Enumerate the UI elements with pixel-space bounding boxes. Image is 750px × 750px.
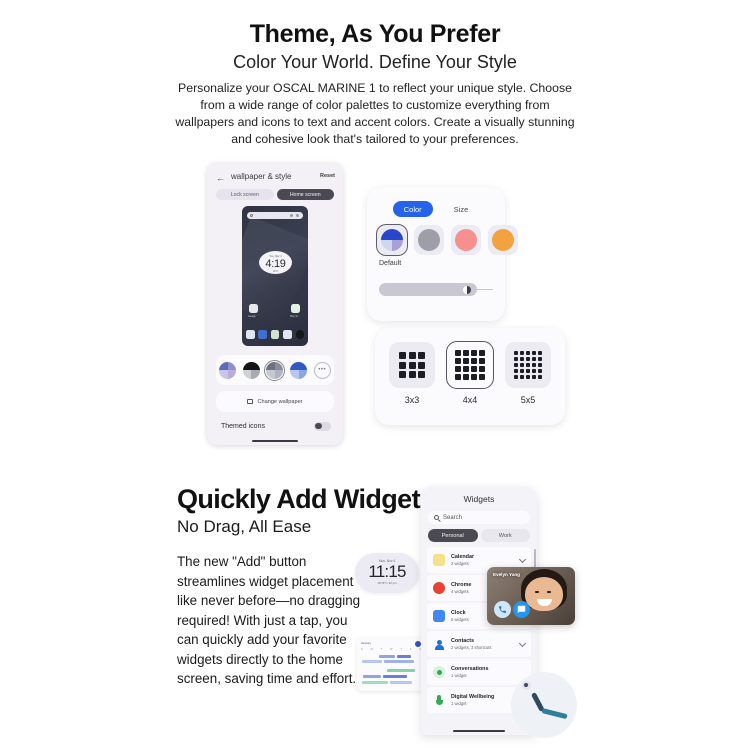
list-item-name: Chrome	[451, 582, 471, 588]
grid-cell	[520, 357, 524, 361]
palette-more-button[interactable]: •••	[314, 362, 331, 379]
calendar-event-bar	[379, 655, 395, 658]
list-item[interactable]: Conversations 1 widget	[427, 659, 531, 685]
grid-cell	[520, 363, 524, 367]
tab-lock-screen[interactable]: Lock screen	[216, 189, 274, 200]
phone-palette-row: •••	[216, 355, 334, 385]
list-item-count: 1 widget	[451, 673, 488, 678]
grid-cell	[463, 374, 469, 380]
chevron-down-icon[interactable]	[519, 640, 526, 647]
calendar-event-bar	[363, 675, 381, 678]
grid-cell	[532, 369, 536, 373]
grid-label-3x3: 3x3	[389, 395, 435, 405]
slider-knob[interactable]	[463, 286, 471, 294]
grid-option-4x4[interactable]: 4x4	[447, 342, 493, 405]
eye-right	[547, 591, 551, 593]
list-item-name: Clock	[451, 610, 469, 616]
grid-cell	[526, 357, 530, 361]
grid-cell	[455, 350, 461, 356]
grid-cell	[471, 358, 477, 364]
section1-body: Personalize your OSCAL MARINE 1 to refle…	[175, 80, 575, 148]
grid-cell	[463, 358, 469, 364]
lens-icon	[296, 214, 299, 217]
grid-cell	[526, 375, 530, 379]
grid-cell	[532, 357, 536, 361]
list-item-name: Contacts	[451, 638, 492, 644]
change-wallpaper-button[interactable]: Change wallpaper	[216, 391, 334, 412]
widgets-panel-tabs: Personal Work	[428, 529, 530, 542]
grid-cell	[399, 371, 406, 378]
grid-label-5x5: 5x5	[505, 395, 551, 405]
dock-icon-messages	[258, 330, 267, 339]
phone-header: ← wallpaper & style Reset	[207, 171, 343, 187]
themed-icons-row: Themed icons	[221, 419, 331, 433]
calendar-event-bar	[384, 660, 414, 663]
grid-cell	[532, 375, 536, 379]
grid-cell	[471, 350, 477, 356]
list-item-name: Calendar	[451, 554, 474, 560]
palette-swatch-blue[interactable]	[290, 362, 307, 379]
phone-mockup: ← wallpaper & style Reset Lock screen Ho…	[207, 163, 343, 445]
list-item-name: Digital Wellbeing	[451, 694, 494, 700]
preview-clock-time: 4:19	[259, 258, 292, 270]
list-item-count: 5 widgets	[451, 617, 469, 622]
grid-cell	[455, 358, 461, 364]
message-icon[interactable]	[513, 601, 530, 618]
grid-cell	[538, 363, 542, 367]
call-icon[interactable]	[494, 601, 511, 618]
chrome-app-icon	[433, 582, 445, 594]
grid-preview-5x5	[514, 351, 542, 379]
conversations-app-icon	[433, 666, 445, 678]
widgets-home-indicator	[453, 730, 505, 732]
palette-swatch-black-grey[interactable]	[243, 362, 260, 379]
list-item-count: 2 widgets, 3 shortcuts	[451, 645, 492, 650]
mic-icon	[290, 214, 293, 217]
clock-app-icon	[433, 610, 445, 622]
calendar-day-headers: SMTWTFS	[361, 648, 421, 651]
color-swatch-default-label: Default	[379, 260, 401, 267]
widgets-search-placeholder: Search	[443, 515, 462, 521]
color-swatch-grey[interactable]	[414, 225, 444, 255]
slider-remainder	[475, 289, 493, 290]
toggle-thumb	[315, 423, 322, 430]
preview-search-bar	[247, 212, 303, 219]
grid-cell	[520, 369, 524, 373]
widgets-panel-title: Widgets	[421, 494, 537, 504]
grid-cell	[463, 350, 469, 356]
list-item-count: 2 widgets	[451, 561, 474, 566]
grid-cell	[418, 362, 425, 369]
grid-label-4x4: 4x4	[447, 395, 493, 405]
page-root: Theme, As You Prefer Color Your World. D…	[0, 0, 750, 750]
grid-cell	[455, 366, 461, 372]
preview-app-label-play: Play St...	[290, 315, 300, 318]
grid-cell	[520, 351, 524, 355]
calendar-event-bar	[390, 681, 412, 684]
palette-swatch-grey[interactable]	[266, 362, 283, 379]
themed-icons-label: Themed icons	[221, 423, 265, 430]
grid-cell	[538, 369, 542, 373]
list-item[interactable]: Contacts 2 widgets, 3 shortcuts	[427, 631, 531, 657]
calendar-widget-header: January	[361, 641, 371, 645]
color-swatch-orange[interactable]	[488, 225, 518, 255]
image-icon	[247, 399, 253, 404]
section1-subtitle: Color Your World. Define Your Style	[0, 52, 750, 73]
contacts-app-icon	[433, 638, 445, 650]
grid-cell	[479, 374, 485, 380]
calendar-event-bar	[387, 669, 415, 672]
grid-size-card: 3x3 4x4 5x5	[375, 328, 565, 425]
phone-home-indicator	[252, 440, 298, 442]
chevron-down-icon[interactable]	[519, 556, 526, 563]
grid-cell	[418, 352, 425, 359]
grid-cell	[479, 366, 485, 372]
grid-preview-3x3	[399, 352, 425, 378]
grid-option-3x3[interactable]: 3x3	[389, 342, 435, 405]
grid-cell	[455, 374, 461, 380]
section1-title: Theme, As You Prefer	[0, 20, 750, 49]
analog-clock-widget	[511, 672, 577, 738]
section2-body: The new "Add" button streamlines widget …	[177, 552, 367, 689]
grid-cell	[538, 375, 542, 379]
grid-cell	[514, 369, 518, 373]
grid-cell	[514, 351, 518, 355]
calendar-event-bar	[397, 655, 411, 658]
change-wallpaper-label: Change wallpaper	[257, 399, 302, 405]
preview-app-icon-play	[291, 304, 300, 313]
tab-work[interactable]: Work	[481, 529, 531, 542]
tab-size[interactable]: Size	[443, 201, 480, 217]
list-item-name: Conversations	[451, 666, 488, 672]
digital-wellbeing-app-icon	[433, 694, 445, 706]
preview-dock	[246, 329, 304, 340]
grid-cell	[409, 362, 416, 369]
calendar-event-bar	[362, 681, 388, 684]
grid-cell	[526, 351, 530, 355]
tab-home-screen[interactable]: Home screen	[277, 189, 335, 200]
grid-option-5x5[interactable]: 5x5	[505, 342, 551, 405]
phone-wallpaper-preview[interactable]: Tue, Mar 4 4:19 18°C Google Play St...	[242, 206, 308, 346]
search-icon	[434, 515, 439, 520]
grid-cell	[526, 363, 530, 367]
preview-clock-weather: 18°C	[259, 270, 292, 273]
grid-cell	[409, 371, 416, 378]
search-icon	[250, 214, 253, 217]
grid-cell	[463, 366, 469, 372]
video-call-widget[interactable]: Evelyn Yang	[487, 567, 575, 625]
tab-color[interactable]: Color	[393, 201, 433, 217]
list-item-count: 1 widget	[451, 701, 494, 706]
color-intensity-slider[interactable]	[379, 283, 493, 296]
eye-left	[535, 591, 539, 593]
dock-icon-phone	[246, 330, 255, 339]
themed-icons-toggle[interactable]	[314, 422, 331, 431]
section2-subtitle: No Drag, All Ease	[177, 517, 311, 537]
color-card-tabs: Color Size	[367, 201, 505, 217]
calendar-event-bar	[383, 675, 407, 678]
grid-cell	[532, 363, 536, 367]
grid-cell	[479, 358, 485, 364]
tab-personal[interactable]: Personal	[428, 529, 478, 542]
preview-clock-widget: Tue, Mar 4 4:19 18°C	[259, 251, 292, 274]
color-swatch-list	[377, 225, 518, 255]
grid-cell	[514, 363, 518, 367]
grid-cell	[532, 351, 536, 355]
grid-cell	[479, 350, 485, 356]
dock-icon-contacts	[283, 330, 292, 339]
grid-cell	[538, 351, 542, 355]
grid-cell	[514, 375, 518, 379]
clock-minute-hand	[541, 708, 567, 719]
grid-cell	[471, 374, 477, 380]
grid-cell	[526, 369, 530, 373]
floating-clock-time: 11:15	[355, 563, 419, 581]
phone-screen-title: wallpaper & style	[231, 172, 291, 181]
color-swatch-blue-default[interactable]	[377, 225, 407, 255]
grid-preview-4x4	[455, 350, 485, 380]
list-item-count: 4 widgets	[451, 589, 471, 594]
grid-cell	[520, 375, 524, 379]
back-arrow-icon[interactable]: ←	[216, 173, 225, 183]
grid-cell	[399, 362, 406, 369]
calendar-app-icon	[433, 554, 445, 566]
grid-cell	[409, 352, 416, 359]
grid-cell	[418, 371, 425, 378]
grid-cell	[399, 352, 406, 359]
floating-clock-weather: 18°/8°C 30 pm	[355, 581, 419, 585]
floating-clock-widget: Mon, Nov 4 11:15 18°/8°C 30 pm	[355, 553, 419, 593]
grid-cell	[471, 366, 477, 372]
color-settings-card: Color Size Default	[367, 187, 505, 321]
clock-marker-dot	[524, 683, 528, 687]
contact-name: Evelyn Yang	[493, 572, 520, 577]
section2-title: Quickly Add Widgets	[177, 484, 434, 515]
color-swatch-pink[interactable]	[451, 225, 481, 255]
preview-app-icon-google	[249, 304, 258, 313]
palette-swatch-lavender-blue[interactable]	[219, 362, 236, 379]
phone-screen-tabs: Lock screen Home screen	[216, 189, 334, 200]
calendar-event-bar	[362, 660, 382, 663]
clock-marker	[522, 681, 531, 690]
grid-cell	[514, 357, 518, 361]
floating-calendar-widget: January SMTWTFS	[357, 638, 425, 691]
dock-icon-photos	[271, 330, 280, 339]
grid-cell	[538, 357, 542, 361]
reset-button[interactable]: Reset	[320, 173, 335, 179]
preview-app-label-google: Google	[248, 315, 256, 318]
dock-icon-camera	[296, 330, 305, 339]
widgets-search-input[interactable]: Search	[428, 511, 530, 524]
